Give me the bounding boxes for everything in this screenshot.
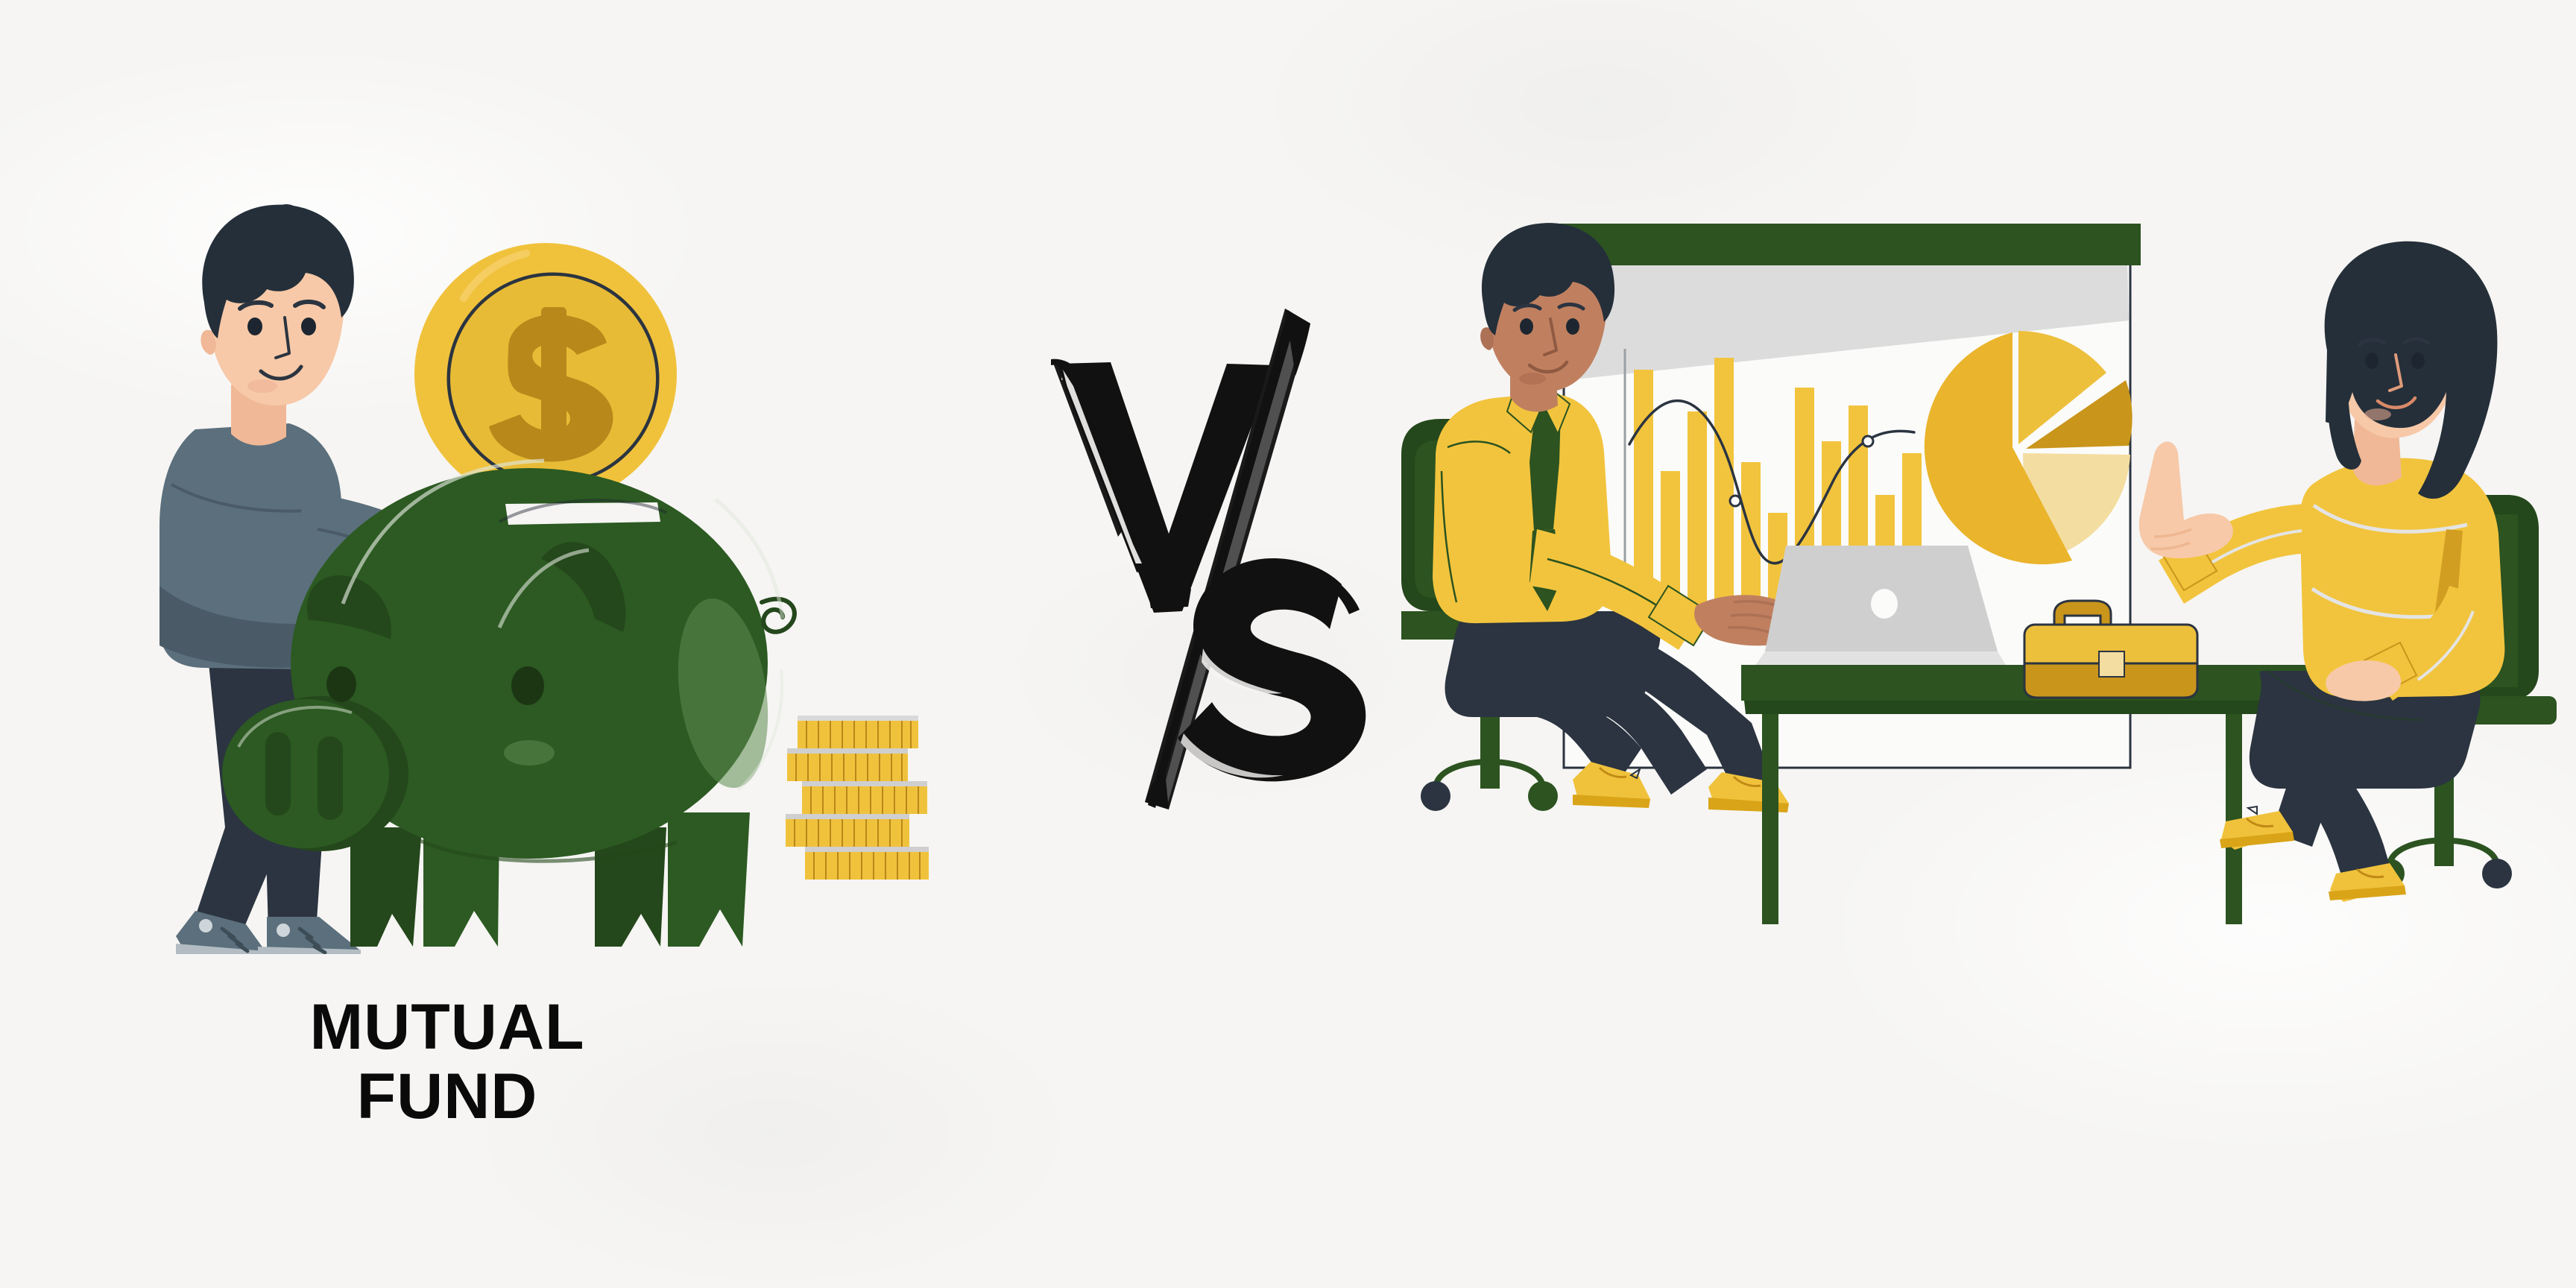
coin-stack-item bbox=[798, 716, 918, 748]
shoe-front bbox=[258, 917, 361, 954]
mutual-fund-illustration bbox=[127, 171, 969, 954]
left-panel-caption: MUTUAL FUND bbox=[142, 993, 753, 1131]
gold-coin bbox=[414, 243, 677, 505]
laptop bbox=[1755, 546, 2007, 666]
right-comparison-panel: PORTFOLIO MANAGEMENT SERVICE bbox=[1386, 0, 2576, 1288]
comparison-stage: MUTUAL FUND bbox=[0, 0, 2576, 1288]
coin-stack-item bbox=[802, 781, 927, 814]
coin-stack-item bbox=[786, 814, 909, 847]
left-comparison-panel: MUTUAL FUND bbox=[0, 0, 1029, 1288]
versus-badge bbox=[1029, 298, 1386, 820]
versus-graphic bbox=[1029, 298, 1386, 820]
coin-stack-item bbox=[787, 748, 908, 781]
coin-stack-item bbox=[805, 847, 929, 880]
desk bbox=[1741, 665, 2345, 924]
portfolio-management-illustration bbox=[1401, 209, 2564, 954]
coin-stack bbox=[786, 716, 929, 880]
whiteboard-top-bar bbox=[1552, 224, 2141, 265]
coin-slot bbox=[499, 500, 666, 525]
